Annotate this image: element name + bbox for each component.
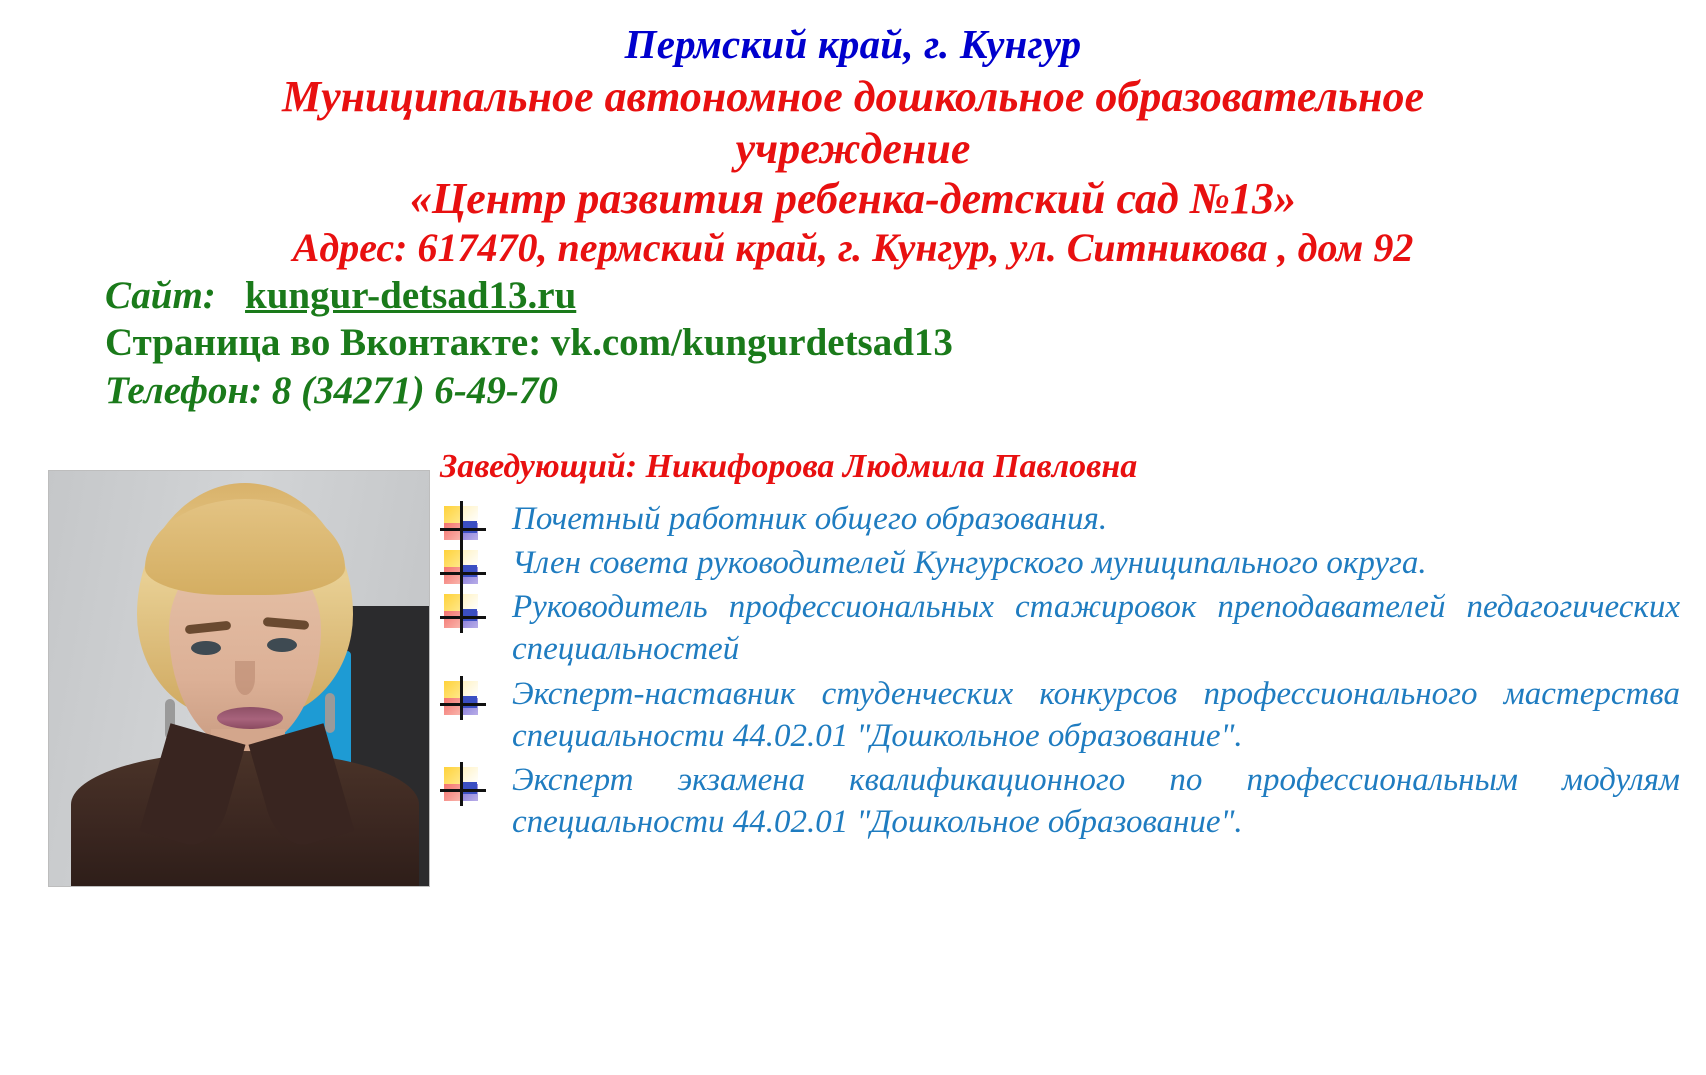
director-info-column: Заведующий: Никифорова Людмила Павловна …	[440, 448, 1706, 845]
list-item: Член совета руководителей Кунгурского му…	[440, 542, 1680, 584]
site-label: Сайт:	[105, 274, 216, 317]
colored-cross-bullet-icon	[444, 550, 478, 584]
photo-shirt	[71, 751, 419, 886]
body-area: Заведующий: Никифорова Людмила Павловна …	[0, 448, 1706, 887]
photo-nose	[235, 661, 255, 695]
list-item-label: Эксперт-наставник студенческих конкурсов…	[512, 676, 1680, 754]
colored-cross-bullet-icon	[444, 681, 478, 715]
site-url-link[interactable]: kungur-detsad13.ru	[245, 274, 576, 317]
list-item-label: Руководитель профессиональных стажировок…	[512, 589, 1680, 667]
colored-cross-bullet-icon	[444, 767, 478, 801]
header-block: Пермский край, г. Кунгур Муниципальное а…	[0, 0, 1706, 414]
vk-page-line[interactable]: Страница во Вконтакте: vk.com/kungurdets…	[105, 319, 1676, 367]
list-item-label: Почетный работник общего образования.	[512, 501, 1107, 537]
director-portrait-photo	[48, 470, 430, 887]
list-item: Эксперт-наставник студенческих конкурсов…	[440, 673, 1680, 757]
director-achievements-list: Почетный работник общего образования. Чл…	[440, 498, 1680, 844]
phone-line: Телефон: 8 (34271) 6-49-70	[105, 367, 1676, 415]
photo-earring-right	[325, 693, 335, 733]
list-item-label: Член совета руководителей Кунгурского му…	[512, 545, 1427, 581]
photo-column	[0, 448, 440, 887]
header-organization-line-2: учреждение	[153, 124, 1553, 173]
header-organization-line-1: Муниципальное автономное дошкольное обра…	[153, 72, 1553, 121]
header-region-line: Пермский край, г. Кунгур	[30, 22, 1676, 66]
contacts-block: Сайт: kungur-detsad13.ru Страница во Вко…	[30, 272, 1676, 415]
slide-root: Пермский край, г. Кунгур Муниципальное а…	[0, 0, 1706, 1075]
list-item: Почетный работник общего образования.	[440, 498, 1680, 540]
site-line: Сайт: kungur-detsad13.ru	[105, 272, 1676, 320]
colored-cross-bullet-icon	[444, 506, 478, 540]
director-title-line: Заведующий: Никифорова Людмила Павловна	[440, 448, 1680, 485]
list-item: Эксперт экзамена квалификационного по пр…	[440, 759, 1680, 843]
list-item: Руководитель профессиональных стажировок…	[440, 586, 1680, 670]
colored-cross-bullet-icon	[444, 594, 478, 628]
list-item-label: Эксперт экзамена квалификационного по пр…	[512, 762, 1680, 840]
header-organization-name: «Центр развития ребенка-детский сад №13»	[30, 175, 1676, 223]
header-address-line: Адрес: 617470, пермский край, г. Кунгур,…	[30, 226, 1676, 269]
